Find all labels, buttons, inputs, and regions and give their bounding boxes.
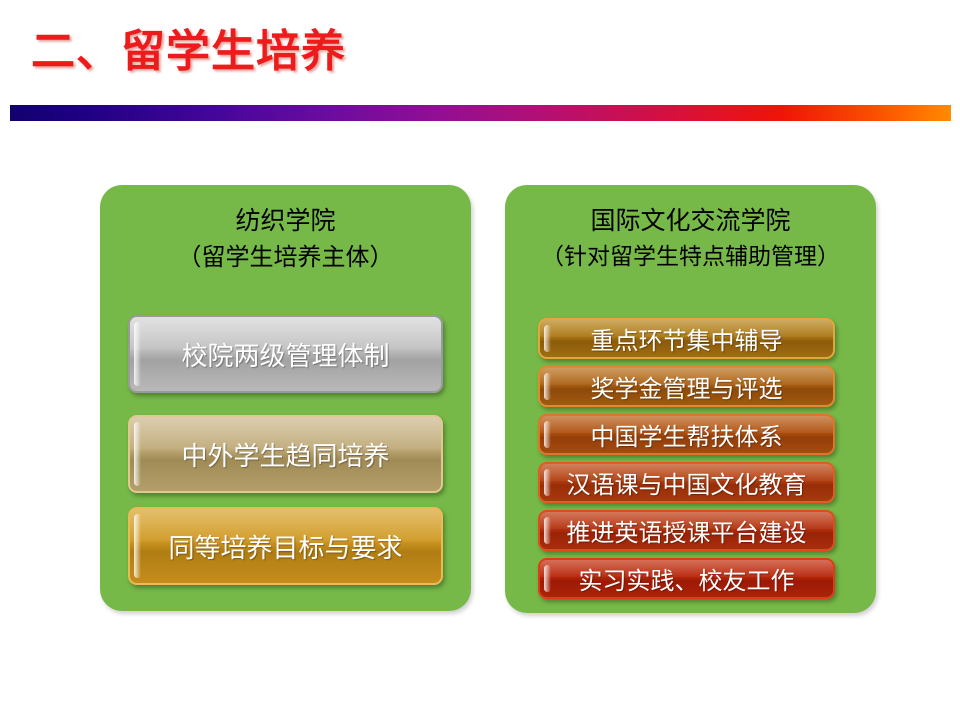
item-school-college-two-level-management[interactable]: 校院两级管理体制 bbox=[128, 315, 443, 393]
item-label: 重点环节集中辅导 bbox=[591, 321, 783, 356]
panel-heading-title: 国际文化交流学院 bbox=[505, 203, 876, 239]
item-chinese-language-and-culture-education[interactable]: 汉语课与中国文化教育 bbox=[538, 462, 835, 503]
panel-heading-textile: 纺织学院 （留学生培养主体） bbox=[100, 203, 471, 275]
panel-heading-title: 纺织学院 bbox=[100, 203, 471, 239]
panel-heading-subtitle: （留学生培养主体） bbox=[100, 239, 471, 275]
item-equal-training-goals-and-requirements[interactable]: 同等培养目标与要求 bbox=[128, 507, 443, 585]
item-chinese-student-support-system[interactable]: 中国学生帮扶体系 bbox=[538, 414, 835, 455]
slide-canvas: 二、留学生培养 纺织学院 （留学生培养主体） 校院两级管理体制 中外学生趋同培养… bbox=[0, 0, 960, 720]
panel-heading-international: 国际文化交流学院 （针对留学生特点辅助管理） bbox=[505, 203, 876, 275]
item-label: 推进英语授课平台建设 bbox=[567, 513, 807, 548]
item-label: 实习实践、校友工作 bbox=[579, 561, 795, 596]
panel-heading-subtitle: （针对留学生特点辅助管理） bbox=[505, 239, 876, 275]
item-key-stage-intensive-tutoring[interactable]: 重点环节集中辅导 bbox=[538, 318, 835, 359]
title-divider-rule bbox=[10, 105, 951, 121]
item-label: 奖学金管理与评选 bbox=[591, 369, 783, 404]
page-title: 二、留学生培养 bbox=[31, 20, 346, 84]
item-label: 汉语课与中国文化教育 bbox=[567, 465, 807, 500]
item-label: 同等培养目标与要求 bbox=[168, 528, 402, 565]
item-label: 中国学生帮扶体系 bbox=[591, 417, 783, 452]
item-label: 校院两级管理体制 bbox=[181, 336, 389, 373]
item-scholarship-management-and-selection[interactable]: 奖学金管理与评选 bbox=[538, 366, 835, 407]
item-promote-english-teaching-platform[interactable]: 推进英语授课平台建设 bbox=[538, 510, 835, 551]
item-label: 中外学生趋同培养 bbox=[181, 436, 389, 473]
item-internship-practice-and-alumni-work[interactable]: 实习实践、校友工作 bbox=[538, 558, 835, 599]
item-chinese-foreign-student-convergent-training[interactable]: 中外学生趋同培养 bbox=[128, 415, 443, 493]
